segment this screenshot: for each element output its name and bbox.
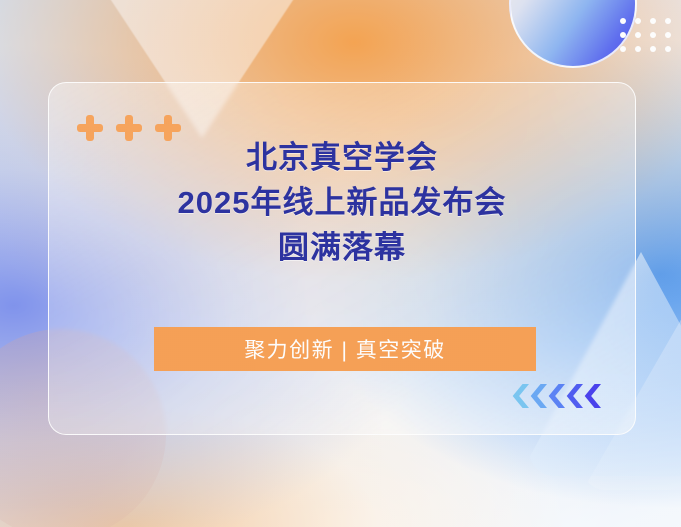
grid-dot [650,46,656,52]
headline-line-2: 2025年线上新品发布会 [49,180,635,225]
chevron-decoration-group [512,384,601,408]
chevron-left-icon [530,384,547,408]
grid-dot [650,18,656,24]
tagline-text: 聚力创新 | 真空突破 [244,334,446,364]
glass-card: 北京真空学会 2025年线上新品发布会 圆满落幕 聚力创新 | 真空突破 [48,82,636,435]
chevron-left-icon [512,384,529,408]
chevron-left-icon [566,384,583,408]
headline-line-1: 北京真空学会 [49,135,635,180]
headline-line-3: 圆满落幕 [49,225,635,270]
grid-dot [650,32,656,38]
dot-grid-icon [620,18,674,55]
grid-dot [635,32,641,38]
grid-dot [635,18,641,24]
grid-dot [620,18,626,24]
grid-dot [665,32,671,38]
event-poster: 北京真空学会 2025年线上新品发布会 圆满落幕 聚力创新 | 真空突破 [0,0,681,527]
tagline-banner: 聚力创新 | 真空突破 [154,327,536,371]
grid-dot [620,32,626,38]
page-title: 北京真空学会 2025年线上新品发布会 圆满落幕 [49,135,635,270]
grid-dot [635,46,641,52]
grid-dot [620,46,626,52]
grid-dot [665,18,671,24]
grid-dot [665,46,671,52]
chevron-left-icon [548,384,565,408]
chevron-left-icon [584,384,601,408]
